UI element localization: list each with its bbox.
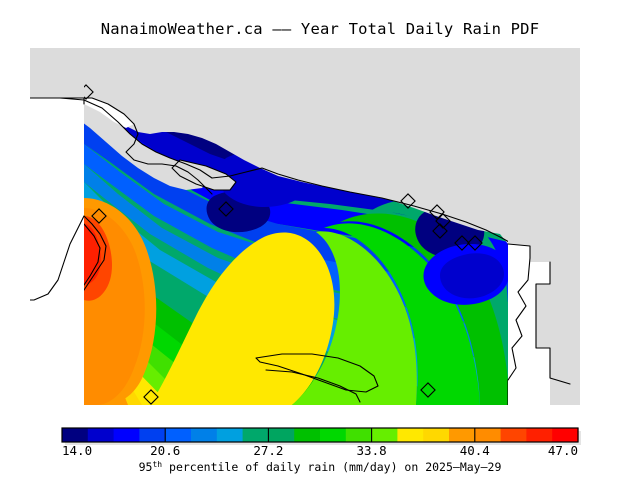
colorbar-panel: 14.020.627.233.840.447.0 95th percentile… <box>0 424 640 480</box>
colorbar-swatch <box>475 428 501 442</box>
contour-map <box>30 48 580 405</box>
colorbar-swatch <box>191 428 217 442</box>
colorbar-swatch <box>62 428 88 442</box>
land-margin-left <box>30 48 84 98</box>
colorbar-tick-labels: 14.020.627.233.840.447.0 <box>62 443 578 458</box>
colorbar-tick-label: 27.2 <box>253 443 283 458</box>
colorbar-tick-label: 14.0 <box>62 443 92 458</box>
colorbar-swatch <box>217 428 243 442</box>
colorbar-swatch <box>346 428 372 442</box>
colorbar-swatch <box>139 428 165 442</box>
map-panel <box>30 48 580 405</box>
colorbar-tick-label: 47.0 <box>548 443 578 458</box>
mask-left <box>30 48 84 405</box>
caption-part-b: percentile of daily rain (mm/day) on 202… <box>162 460 501 474</box>
caption-part-a: 95 <box>139 460 153 474</box>
colorbar-swatch <box>449 428 475 442</box>
colorbar-swatch <box>268 428 294 442</box>
colorbar-swatch <box>372 428 398 442</box>
colorbar-swatch <box>552 428 578 442</box>
colorbar-swatch <box>88 428 114 442</box>
colorbar-swatch <box>243 428 269 442</box>
page-title: NanaimoWeather.ca —— Year Total Daily Ra… <box>0 20 640 38</box>
colorbar-tick-label: 33.8 <box>357 443 387 458</box>
caption-superscript: th <box>152 460 162 469</box>
colorbar-swatch <box>526 428 552 442</box>
colorbar-swatch <box>165 428 191 442</box>
colorbar-tick-label: 20.6 <box>150 443 180 458</box>
colorbar-swatch <box>397 428 423 442</box>
figure-root: NanaimoWeather.ca —— Year Total Daily Ra… <box>0 0 640 480</box>
colorbar-caption: 95th percentile of daily rain (mm/day) o… <box>139 460 502 474</box>
colorbar-swatch <box>294 428 320 442</box>
colorbar-swatch <box>114 428 140 442</box>
colorbar-swatch <box>423 428 449 442</box>
colorbar-swatches <box>62 428 579 442</box>
colorbar: 14.020.627.233.840.447.0 95th percentile… <box>0 424 640 480</box>
colorbar-swatch <box>501 428 527 442</box>
colorbar-tick-label: 40.4 <box>460 443 490 458</box>
colorbar-swatch <box>320 428 346 442</box>
